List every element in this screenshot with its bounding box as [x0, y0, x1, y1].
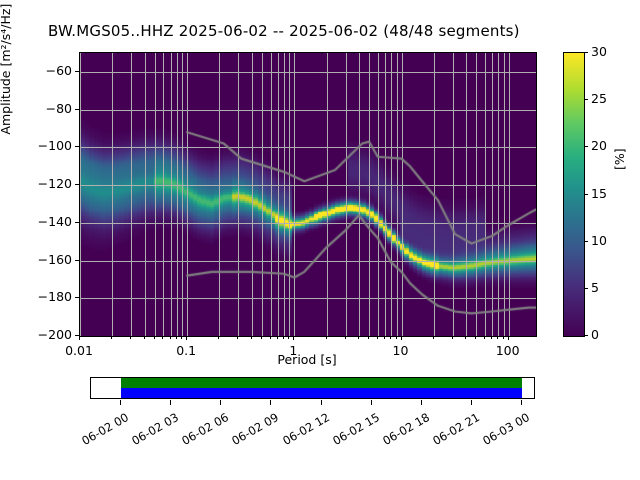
y-axis-title: Amplitude [m²/s⁴/Hz] [dB]	[0, 0, 13, 54]
x-tick-minor	[433, 336, 434, 339]
x-tick-minor	[390, 336, 391, 339]
x-tick-minor	[283, 336, 284, 339]
x-tick-minor	[277, 336, 278, 339]
peterson-noise-model-curves	[80, 53, 536, 336]
x-tick-label: 10	[372, 343, 428, 358]
x-tick-minor	[475, 336, 476, 339]
x-tick-major	[79, 336, 80, 340]
x-tick-major	[508, 336, 509, 340]
colorbar-tick-label: 15	[591, 186, 607, 201]
x-tick-minor	[170, 336, 171, 339]
x-tick-minor	[345, 336, 346, 339]
colorbar-tick	[584, 52, 588, 53]
timeline-tick	[170, 400, 171, 405]
x-tick-minor	[368, 336, 369, 339]
x-tick-minor	[176, 336, 177, 339]
timeline-coverage-bar	[121, 388, 522, 398]
y-tick-label: −80	[46, 101, 72, 116]
timeline-tick	[371, 400, 372, 405]
x-tick-minor	[503, 336, 504, 339]
y-tick	[75, 109, 79, 110]
y-tick	[75, 71, 79, 72]
x-tick-major	[401, 336, 402, 340]
y-tick-label: −60	[46, 63, 72, 78]
x-tick-minor	[384, 336, 385, 339]
y-tick-label: −180	[38, 289, 72, 304]
x-tick-minor	[144, 336, 145, 339]
x-tick-major	[293, 336, 294, 340]
x-tick-minor	[484, 336, 485, 339]
colorbar-tick-label: 25	[591, 91, 607, 106]
timeline-tick	[270, 400, 271, 405]
x-tick-minor	[162, 336, 163, 339]
x-tick-minor	[251, 336, 252, 339]
x-tick-minor	[497, 336, 498, 339]
timeline-tick	[471, 400, 472, 405]
x-tick-minor	[377, 336, 378, 339]
x-tick-minor	[270, 336, 271, 339]
colorbar-tick	[584, 99, 588, 100]
x-tick-minor	[452, 336, 453, 339]
timeline-tick	[220, 400, 221, 405]
colorbar-tick	[584, 194, 588, 195]
y-axis-title-text: Amplitude [m²/s⁴/Hz] [dB]	[0, 0, 13, 154]
x-tick-minor	[181, 336, 182, 339]
y-tick	[75, 297, 79, 298]
y-tick-label: −120	[38, 176, 72, 191]
gridline-horizontal	[80, 336, 536, 337]
x-tick-label: 0.1	[158, 343, 214, 358]
y-tick	[75, 222, 79, 223]
ppsd-figure: BW.MGS05..HHZ 2025-06-02 -- 2025-06-02 (…	[0, 0, 640, 480]
ppsd-plot-area[interactable]	[79, 52, 537, 337]
x-tick-minor	[465, 336, 466, 339]
x-tick-major	[186, 336, 187, 340]
x-tick-label: 0.01	[51, 343, 107, 358]
colorbar-title: [%]	[612, 148, 627, 170]
colorbar-tick	[584, 288, 588, 289]
colorbar-tick-label: 5	[591, 280, 599, 295]
timeline-tick	[421, 400, 422, 405]
x-tick-label: 100	[480, 343, 536, 358]
y-tick-label: −100	[38, 138, 72, 153]
y-tick	[75, 260, 79, 261]
x-tick-minor	[491, 336, 492, 339]
colorbar-tick-label: 30	[591, 44, 607, 59]
y-tick	[75, 184, 79, 185]
y-tick-label: −200	[38, 327, 72, 342]
timeline-tick	[521, 400, 522, 405]
colorbar-tick	[584, 241, 588, 242]
colorbar-tick-label: 0	[591, 327, 599, 342]
timeline-tick	[321, 400, 322, 405]
x-tick-minor	[154, 336, 155, 339]
x-tick-minor	[130, 336, 131, 339]
data-coverage-timeline[interactable]	[90, 377, 535, 399]
colorbar-tick	[584, 146, 588, 147]
figure-title: BW.MGS05..HHZ 2025-06-02 -- 2025-06-02 (…	[48, 22, 520, 40]
x-tick-label: 1	[265, 343, 321, 358]
x-tick-minor	[237, 336, 238, 339]
x-tick-minor	[326, 336, 327, 339]
timeline-data-bar	[121, 378, 522, 388]
colorbar-tick-label: 10	[591, 233, 607, 248]
colorbar-tick	[584, 335, 588, 336]
y-tick	[75, 146, 79, 147]
colorbar-tick-label: 20	[591, 138, 607, 153]
timeline-tick	[120, 400, 121, 405]
colorbar	[563, 52, 585, 337]
x-tick-minor	[111, 336, 112, 339]
x-tick-minor	[396, 336, 397, 339]
x-tick-minor	[358, 336, 359, 339]
y-tick-label: −160	[38, 252, 72, 267]
x-tick-minor	[261, 336, 262, 339]
x-tick-minor	[288, 336, 289, 339]
y-tick-label: −140	[38, 214, 72, 229]
x-tick-minor	[218, 336, 219, 339]
